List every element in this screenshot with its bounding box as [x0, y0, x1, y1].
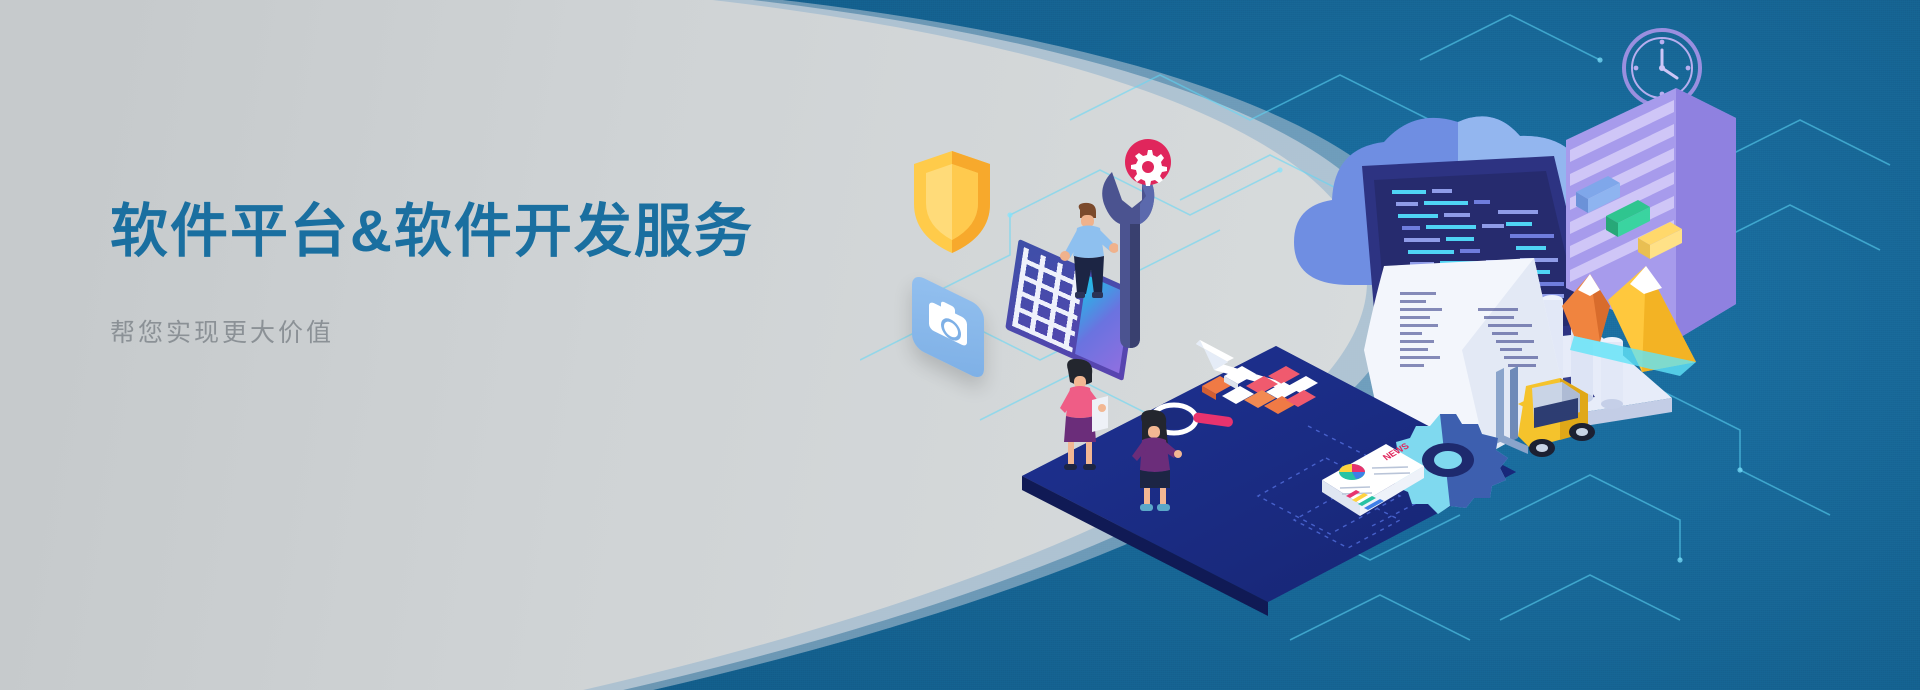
shield-icon — [910, 148, 994, 256]
hero-illustration: NEWS — [860, 0, 1920, 690]
page-subtitle: 帮您实现更大价值 — [110, 313, 870, 349]
analyst-figure-paper — [1052, 358, 1108, 478]
gear-badge-icon — [1122, 138, 1174, 190]
developer-figure — [1058, 202, 1118, 322]
hero-copy: 软件平台&软件开发服务 帮您实现更大价值 — [110, 200, 870, 349]
news-report-card: NEWS — [1312, 440, 1430, 540]
hero-banner: 软件平台&软件开发服务 帮您实现更大价值 — [0, 0, 1920, 690]
mountain-chart-icon — [1560, 244, 1740, 376]
analyst-figure-magnifier — [1128, 408, 1182, 518]
page-title: 软件平台&软件开发服务 — [110, 200, 870, 265]
